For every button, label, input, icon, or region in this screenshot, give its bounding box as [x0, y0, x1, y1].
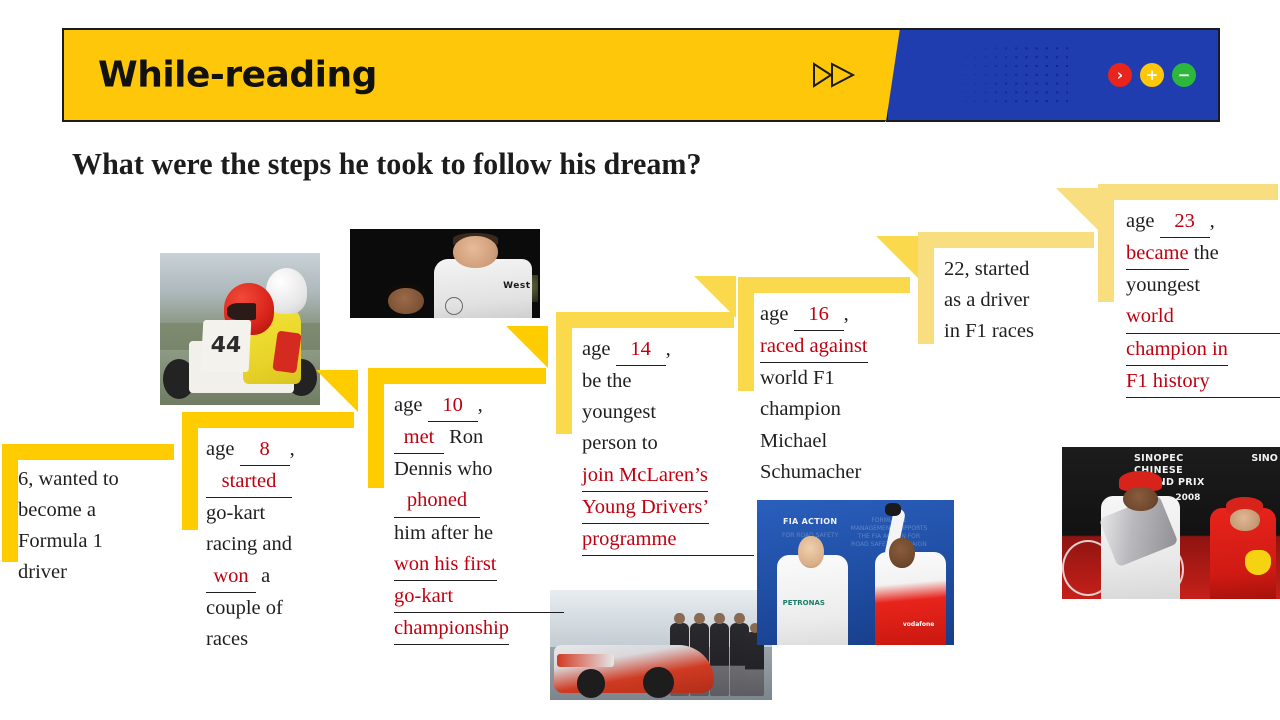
photo-young-hamilton-gokart: 44	[160, 253, 320, 405]
fia-board-title: FIA ACTION	[777, 517, 844, 527]
prompt-text: youngest	[1126, 274, 1200, 296]
step-line: join McLaren’s	[582, 460, 754, 492]
step-line: champion in	[1126, 334, 1280, 366]
answer-text: world	[1126, 301, 1280, 333]
step-bracket-top	[368, 368, 546, 384]
vodafone-logo: vodafone	[903, 621, 934, 628]
answer-text: go-kart	[394, 581, 564, 613]
kart-number: 44	[200, 320, 251, 372]
prompt-text: become a	[18, 499, 96, 521]
west-sponsor-text: West	[503, 281, 530, 291]
step-line: raced against	[760, 331, 930, 363]
prompt-text: driver	[18, 561, 67, 583]
step-line: driver	[18, 557, 178, 588]
answer-text: raced against	[760, 331, 868, 363]
answer-text: join McLaren’s	[582, 460, 708, 492]
photo-hamilton-with-ron-dennis: West	[350, 229, 540, 318]
petronas-logo: PETRONAS	[783, 599, 825, 607]
step-bracket-top	[556, 312, 734, 328]
step-1-text: 6, wanted tobecome aFormula 1driver	[18, 464, 178, 589]
step-line: person to	[582, 428, 754, 459]
answer-text: 23	[1160, 206, 1210, 238]
answer-text: started	[206, 466, 292, 498]
header-banner: While-reading › + −	[62, 28, 1220, 122]
step-line: go-kart	[206, 498, 366, 529]
header-pill-row: › + −	[1108, 63, 1196, 87]
prompt-text: 6, wanted to	[18, 468, 119, 490]
prompt-text: age	[206, 438, 240, 460]
answer-text: 16	[794, 299, 844, 331]
answer-text: championship	[394, 613, 509, 645]
step-line: age 14,	[582, 334, 754, 366]
step-line: started	[206, 466, 366, 498]
step-bracket-top	[918, 232, 1094, 248]
step-5-text: age 16,raced againstworld F1championMich…	[760, 299, 930, 488]
step-bracket-left	[918, 232, 934, 344]
step-line: phoned	[394, 485, 564, 517]
prompt-text: 22, started	[944, 258, 1029, 280]
step-line: in F1 races	[944, 316, 1104, 347]
prompt-text: age	[760, 303, 794, 325]
step-2-text: age 8,startedgo-kartracing andwon acoupl…	[206, 434, 366, 655]
answer-text: F1 history	[1126, 366, 1280, 398]
step-connector-wedge	[1056, 188, 1098, 230]
step-line: youngest	[1126, 270, 1280, 301]
prompt-text: ,	[290, 438, 295, 460]
step-line: won his first	[394, 549, 564, 581]
step-line: programme	[582, 524, 754, 556]
prompt-text: age	[394, 394, 428, 416]
step-line: age 23,	[1126, 206, 1280, 238]
photo-chinese-grand-prix-podium-2008: SINOPEC CHINESE GRAND PRIX SINO 2008	[1062, 447, 1280, 599]
page-title: While-reading	[98, 55, 377, 96]
answer-text: 14	[616, 334, 666, 366]
answer-text: champion in	[1126, 334, 1228, 366]
answer-text: phoned	[394, 485, 480, 517]
step-line: 6, wanted to	[18, 464, 178, 495]
prompt-text: Michael	[760, 430, 827, 452]
fast-forward-icon	[812, 62, 856, 88]
prompt-text: go-kart	[206, 502, 265, 524]
step-line: 22, started	[944, 254, 1104, 285]
step-line: world F1	[760, 363, 930, 394]
china-gp-year: 2008	[1175, 493, 1200, 503]
step-bracket-left	[2, 444, 18, 562]
step-line: age 10,	[394, 390, 564, 422]
step-bracket-left	[182, 412, 198, 530]
step-line: Formula 1	[18, 526, 178, 557]
step-bracket-top	[2, 444, 174, 460]
prompt-text: Schumacher	[760, 461, 861, 483]
step-line: couple of	[206, 593, 366, 624]
step-connector-wedge	[316, 370, 358, 412]
prompt-text: in F1 races	[944, 320, 1034, 342]
prompt-text: ,	[1210, 210, 1215, 232]
step-line: Michael	[760, 426, 930, 457]
step-line: as a driver	[944, 285, 1104, 316]
plus-pill[interactable]: +	[1140, 63, 1164, 87]
step-line: races	[206, 624, 366, 655]
step-connector-wedge	[876, 236, 918, 278]
step-bracket-top	[182, 412, 354, 428]
prompt-text: races	[206, 628, 248, 650]
step-line: championship	[394, 613, 564, 645]
step-line: age 16,	[760, 299, 930, 331]
photo-hamilton-and-schumacher: FIA ACTION FOR ROAD SAFETY FORMULA 1 MAN…	[757, 500, 954, 645]
step-line: Young Drivers’	[582, 492, 754, 524]
step-line: won a	[206, 561, 366, 593]
prompt-text: ,	[478, 394, 483, 416]
step-line: Dennis who	[394, 454, 564, 485]
step-line: champion	[760, 394, 930, 425]
step-line: world	[1126, 301, 1280, 333]
step-line: him after he	[394, 518, 564, 549]
prompt-text: ,	[666, 338, 671, 360]
question-heading: What were the steps he took to follow hi…	[72, 146, 701, 182]
china-gp-banner-right: SINO	[1251, 453, 1277, 464]
prompt-text: couple of	[206, 597, 283, 619]
prompt-text: as a driver	[944, 289, 1029, 311]
step-7-text: age 23,became theyoungestworldchampion i…	[1126, 206, 1280, 398]
step-bracket-top	[1098, 184, 1278, 200]
step-line: F1 history	[1126, 366, 1280, 398]
answer-text: 8	[240, 434, 290, 466]
step-line: Schumacher	[760, 457, 930, 488]
prompt-text: ,	[844, 303, 849, 325]
prompt-text: youngest	[582, 401, 656, 423]
prompt-text: a	[256, 565, 270, 587]
step-3-text: age 10,met RonDennis whophonedhim after …	[394, 390, 564, 645]
prompt-text: be the	[582, 370, 632, 392]
answer-text: Young Drivers’	[582, 492, 709, 524]
step-line: racing and	[206, 529, 366, 560]
prompt-text: Formula 1	[18, 530, 103, 552]
answer-text: programme	[582, 524, 754, 556]
prompt-text: Ron	[444, 426, 483, 448]
header-blue-panel: › + −	[886, 28, 1220, 122]
step-line: become a	[18, 495, 178, 526]
photo-mclaren-young-drivers-programme	[550, 590, 772, 700]
step-bracket-left	[556, 312, 572, 434]
step-line: go-kart	[394, 581, 564, 613]
step-bracket-top	[738, 277, 910, 293]
dot-grid-decoration	[950, 44, 1068, 106]
prompt-text: age	[1126, 210, 1160, 232]
step-4-text: age 14,be theyoungestperson tojoin McLar…	[582, 334, 754, 556]
answer-text: met	[394, 422, 444, 454]
minus-pill[interactable]: −	[1172, 63, 1196, 87]
prompt-text: racing and	[206, 533, 292, 555]
prompt-text: Dennis who	[394, 458, 493, 480]
chevron-right-pill[interactable]: ›	[1108, 63, 1132, 87]
answer-text: won	[206, 561, 256, 593]
step-line: met Ron	[394, 422, 564, 454]
prompt-text: person to	[582, 432, 658, 454]
prompt-text: champion	[760, 398, 841, 420]
prompt-text: world F1	[760, 367, 835, 389]
step-line: youngest	[582, 397, 754, 428]
step-line: age 8,	[206, 434, 366, 466]
answer-text: became	[1126, 238, 1189, 270]
answer-text: won his first	[394, 549, 497, 581]
step-bracket-left	[1098, 184, 1114, 302]
prompt-text: age	[582, 338, 616, 360]
step-line: be the	[582, 366, 754, 397]
prompt-text: the	[1189, 242, 1219, 264]
step-line: became the	[1126, 238, 1280, 270]
answer-text: 10	[428, 390, 478, 422]
step-bracket-left	[368, 368, 384, 488]
step-bracket-left	[738, 277, 754, 391]
step-connector-wedge	[506, 326, 548, 368]
prompt-text: him after he	[394, 522, 493, 544]
step-6-text: 22, startedas a driverin F1 races	[944, 254, 1104, 347]
